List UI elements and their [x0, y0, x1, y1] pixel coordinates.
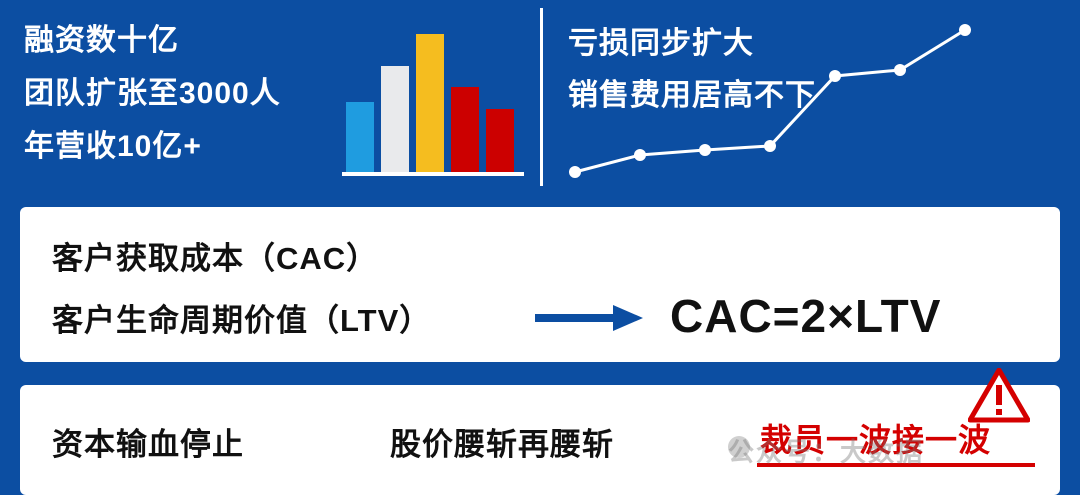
- consequence-text-2: 股价腰斩再腰斩: [390, 419, 614, 464]
- bar-3: [416, 34, 444, 172]
- right-arrow-icon: [535, 303, 645, 333]
- bar-4: [451, 87, 479, 172]
- cac-label: 客户获取成本（CAC）: [52, 233, 378, 278]
- bar-1: [346, 102, 374, 172]
- bar-chart: [342, 26, 524, 181]
- top-left-panel: 融资数十亿 团队扩张至3000人 年营收10亿+: [0, 0, 540, 196]
- line-chart-svg: [540, 0, 1080, 196]
- line-point-5: [829, 70, 841, 82]
- top-section: 融资数十亿 团队扩张至3000人 年营收10亿+ 亏损同步扩大 销售费用居高: [0, 0, 1080, 196]
- line-chart: [540, 0, 1080, 196]
- line-point-1: [569, 166, 581, 178]
- line-point-2: [634, 149, 646, 161]
- ltv-label: 客户生命周期价值（LTV）: [52, 295, 431, 340]
- growth-bullets: 融资数十亿 团队扩张至3000人 年营收10亿+: [24, 14, 344, 173]
- bar-chart-svg: [342, 26, 524, 181]
- bullet-line-3: 年营收10亿+: [24, 120, 344, 173]
- bullet-line-1: 融资数十亿: [24, 14, 344, 67]
- warning-triangle-icon: [968, 368, 1030, 424]
- top-right-panel: 亏损同步扩大 销售费用居高不下: [540, 0, 1080, 196]
- line-point-4: [764, 140, 776, 152]
- consequence-text-1: 资本输血停止: [52, 419, 244, 464]
- cac-ltv-formula: CAC=2×LTV: [670, 289, 941, 343]
- line-point-7: [959, 24, 971, 36]
- line-point-3: [699, 144, 711, 156]
- bar-2: [381, 66, 409, 172]
- line-point-6: [894, 64, 906, 76]
- watermark-text: 公众号：大数据: [728, 432, 924, 469]
- bullet-line-2: 团队扩张至3000人: [24, 67, 344, 120]
- infographic-canvas: 融资数十亿 团队扩张至3000人 年营收10亿+ 亏损同步扩大 销售费用居高: [0, 0, 1080, 495]
- bar-chart-baseline: [342, 172, 524, 176]
- cac-ltv-card: 客户获取成本（CAC） 客户生命周期价值（LTV） CAC=2×LTV: [20, 207, 1060, 362]
- bar-5: [486, 109, 514, 172]
